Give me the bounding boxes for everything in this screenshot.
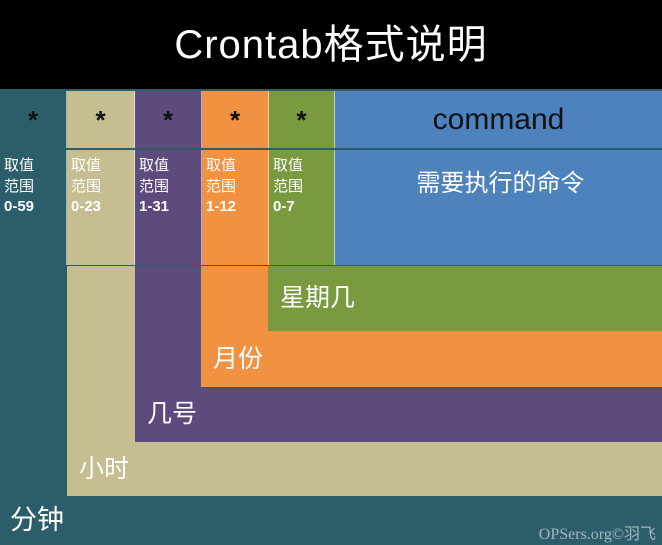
range-label-line1: 取值 xyxy=(273,156,334,177)
page-title: Crontab格式说明 xyxy=(174,25,487,65)
asterisk-icon: * xyxy=(28,107,38,133)
command-description-cell: 需要执行的命令 xyxy=(335,150,662,265)
crontab-format-diagram: Crontab格式说明 * * * * * command 取值 范围 0-59 xyxy=(0,0,662,545)
range-label-line2: 范围 xyxy=(139,177,201,198)
range-value: 0-59 xyxy=(4,197,66,218)
asterisk-row: * * * * * command xyxy=(0,91,662,148)
range-label-line2: 范围 xyxy=(71,177,134,198)
range-value: 0-23 xyxy=(71,197,134,218)
legend-label-day: 几号 xyxy=(147,402,197,427)
legend-block-hour: 小时 xyxy=(67,442,662,496)
range-label-line2: 范围 xyxy=(4,177,66,198)
range-cell-weekday: 取值 范围 0-7 xyxy=(269,150,335,265)
range-value: 0-7 xyxy=(273,197,334,218)
legend-label-month: 月份 xyxy=(213,347,263,372)
range-value: 1-31 xyxy=(139,197,201,218)
legend-block-month: 月份 xyxy=(201,331,662,387)
range-cell-day: 取值 范围 1-31 xyxy=(135,150,202,265)
asterisk-cell-hour: * xyxy=(67,91,135,148)
asterisk-icon: * xyxy=(296,107,306,133)
asterisk-cell-weekday: * xyxy=(269,91,335,148)
asterisk-cell-day: * xyxy=(135,91,202,148)
command-header-cell: command xyxy=(335,91,662,148)
asterisk-icon: * xyxy=(163,107,173,133)
range-label-line2: 范围 xyxy=(273,177,334,198)
legend-label-hour: 小时 xyxy=(79,457,129,482)
range-label-line1: 取值 xyxy=(4,156,66,177)
legend-label-weekday: 星期几 xyxy=(280,286,355,311)
range-cell-minute: 取值 范围 0-59 xyxy=(0,150,67,265)
value-range-row: 取值 范围 0-59 取值 范围 0-23 取值 范围 1-31 取值 范围 1… xyxy=(0,150,662,265)
range-label-line1: 取值 xyxy=(139,156,201,177)
legend-label-minute: 分钟 xyxy=(10,507,64,534)
range-label-line2: 范围 xyxy=(206,177,268,198)
command-description-label: 需要执行的命令 xyxy=(417,172,585,196)
command-header-label: command xyxy=(433,105,565,135)
range-cell-hour: 取值 范围 0-23 xyxy=(67,150,135,265)
asterisk-icon: * xyxy=(230,107,240,133)
asterisk-cell-month: * xyxy=(202,91,269,148)
asterisk-cell-minute: * xyxy=(0,91,67,148)
asterisk-icon: * xyxy=(95,107,105,133)
range-label-line1: 取值 xyxy=(71,156,134,177)
range-value: 1-12 xyxy=(206,197,268,218)
range-cell-month: 取值 范围 1-12 xyxy=(202,150,269,265)
legend-block-day: 几号 xyxy=(135,387,662,442)
watermark: OPSers.org©羽飞 xyxy=(539,527,656,543)
legend-block-weekday: 星期几 xyxy=(268,266,662,331)
range-label-line1: 取值 xyxy=(206,156,268,177)
diagram-title-bar: Crontab格式说明 xyxy=(0,0,662,89)
